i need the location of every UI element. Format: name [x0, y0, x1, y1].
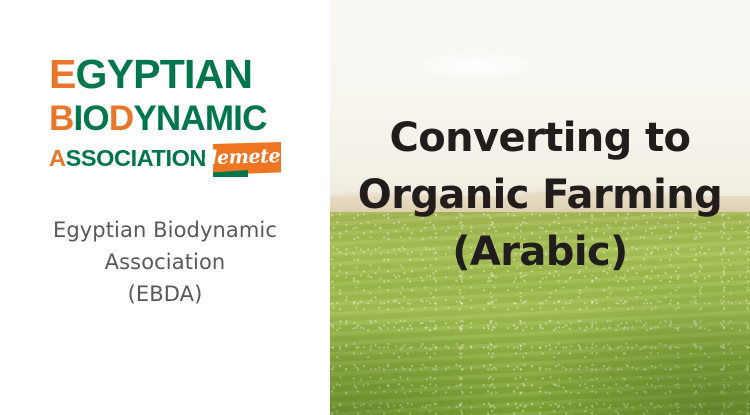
slide-title: Converting to Organic Farming (Arabic) — [330, 110, 750, 280]
cloud-shape — [416, 52, 536, 78]
caption-line-3: (EBDA) — [15, 279, 315, 311]
logo-line-egyptian: EGYPTIAN — [49, 54, 281, 95]
logo-line-biodynamic: BIODYNAMIC — [49, 101, 281, 136]
caption-line-1: Egyptian Biodynamic — [15, 215, 315, 247]
logo-line-association: ASSOCIATION demeter — [49, 142, 281, 175]
field-shadow-left — [330, 325, 506, 415]
logo-letter-e: E — [49, 51, 76, 97]
logo-letter-a: A — [49, 147, 66, 171]
demeter-certification-badge: demeter — [213, 142, 281, 175]
caption-line-2: Association — [15, 247, 315, 279]
slide-card: EGYPTIAN BIODYNAMIC ASSOCIATION demeter … — [0, 0, 750, 415]
field-shadow-right — [540, 285, 750, 415]
egyptian-biodynamic-association-logo: EGYPTIAN BIODYNAMIC ASSOCIATION demeter — [49, 54, 281, 175]
title-line-3: (Arabic) — [338, 224, 742, 281]
right-panel: Converting to Organic Farming (Arabic) — [330, 0, 750, 415]
left-panel: EGYPTIAN BIODYNAMIC ASSOCIATION demeter … — [0, 0, 330, 415]
logo-text-gyptian: GYPTIAN — [76, 51, 253, 97]
logo-text-ynamic: YNAMIC — [133, 99, 266, 138]
logo-letter-d: D — [109, 99, 133, 138]
demeter-badge-label: demeter — [213, 140, 282, 175]
logo-text-io: IO — [73, 99, 108, 138]
logo-letter-b: B — [49, 99, 73, 138]
logo-text-ssociation: SSOCIATION — [66, 147, 207, 171]
organisation-caption: Egyptian Biodynamic Association (EBDA) — [15, 215, 315, 311]
title-line-2: Organic Farming — [338, 167, 742, 224]
title-line-1: Converting to — [338, 110, 742, 167]
